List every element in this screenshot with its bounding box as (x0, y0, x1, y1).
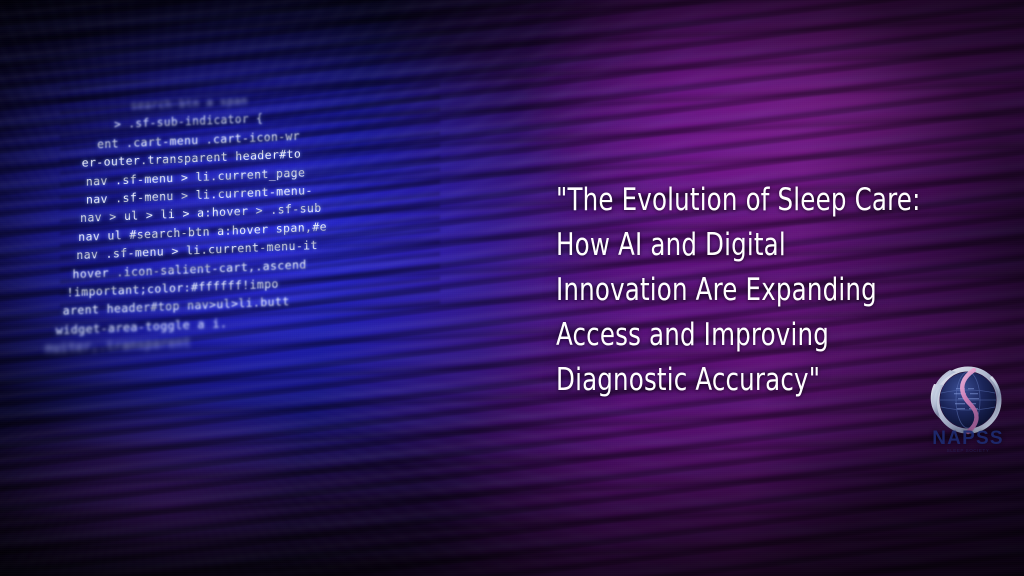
title-line: Innovation Are Expanding (556, 268, 926, 313)
page-title: "The Evolution of Sleep Care: How AI and… (556, 178, 926, 403)
title-line: Access and Improving (556, 313, 926, 358)
title-line: "The Evolution of Sleep Care: (556, 178, 926, 223)
napss-globe-icon (922, 362, 1014, 438)
title-line: How AI and Digital (556, 223, 926, 268)
article-header-banner: search-btn a span > .sf-sub-indicator { … (0, 0, 1024, 576)
logo-subtext: SLEEP SOCIETY (922, 448, 1014, 453)
logo-wordmark: NAPSS (922, 428, 1014, 450)
title-line: Diagnostic Accuracy" (556, 358, 926, 403)
napss-logo[interactable]: NAPSS SLEEP SOCIETY (922, 362, 1014, 458)
